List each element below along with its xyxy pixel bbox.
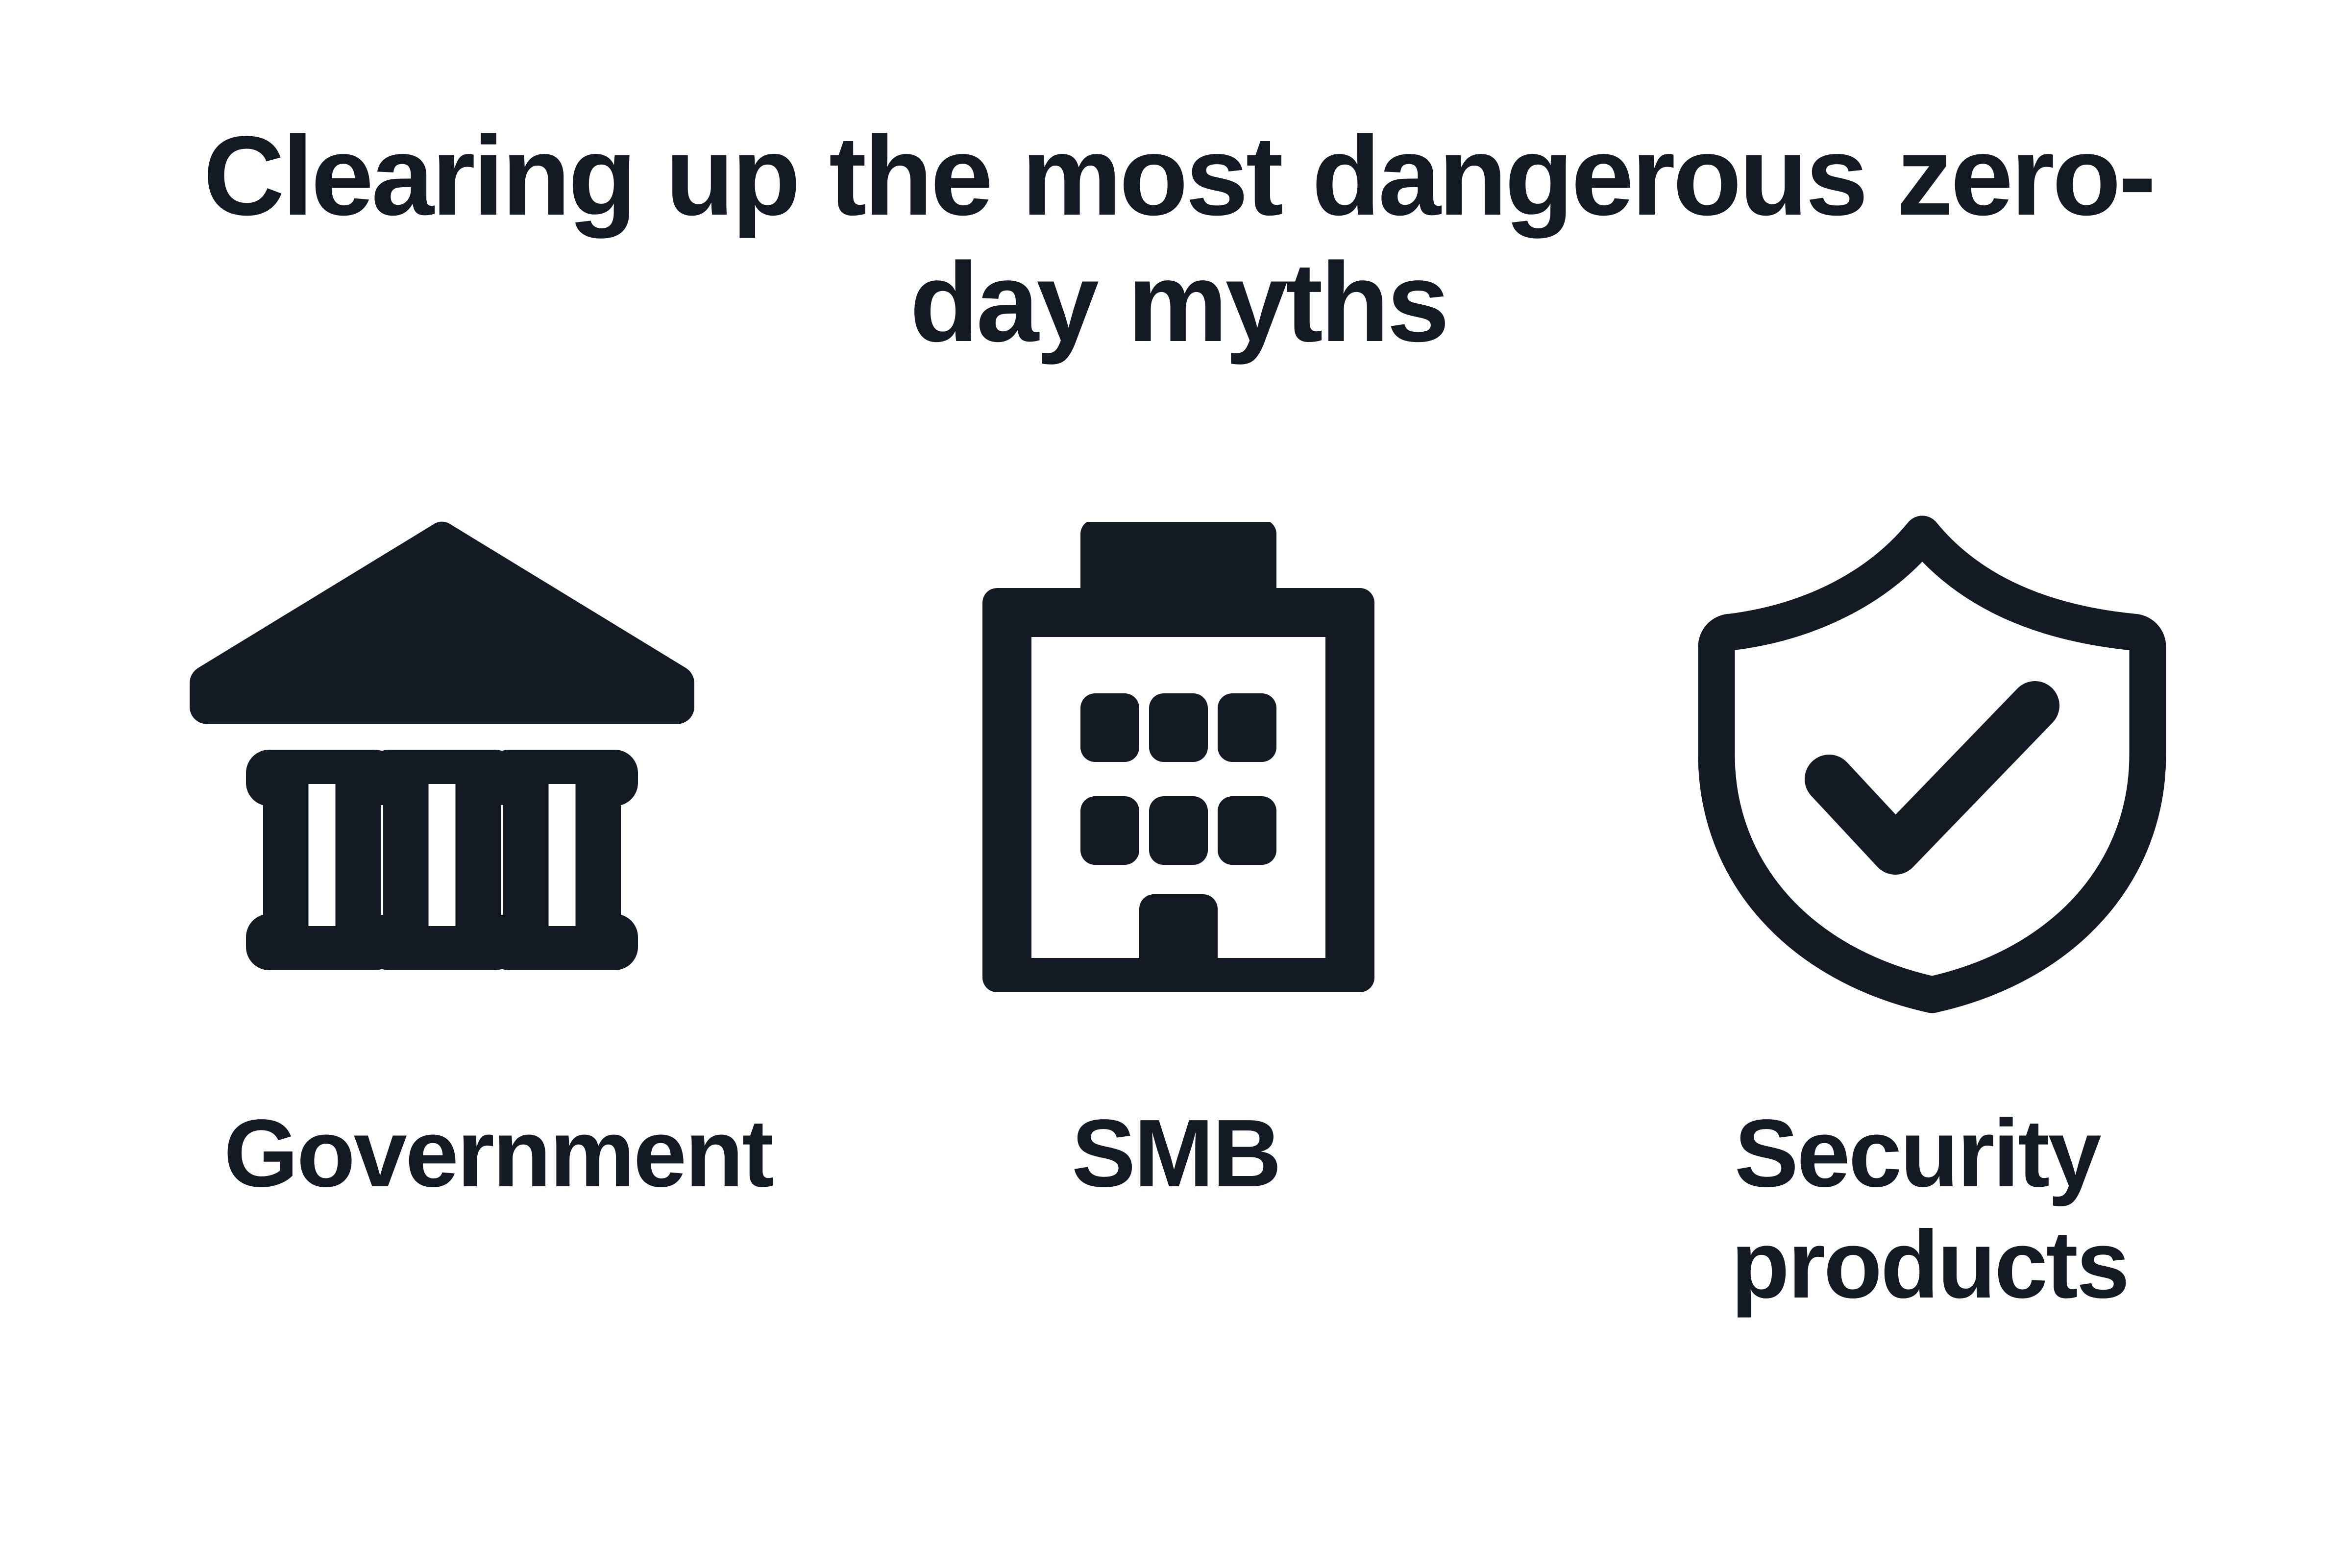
category-label-smb: SMB	[1072, 1098, 1280, 1209]
category-label-government: Government	[224, 1098, 645, 1209]
government-building-icon	[168, 490, 702, 1039]
slide-root: Clearing up the most dangerous zero-day …	[0, 0, 2352, 1568]
category-card-smb: SMB	[805, 490, 1546, 1209]
category-card-security-products: Security products	[1546, 490, 2288, 1321]
office-building-icon	[963, 490, 1389, 1039]
category-label-security-products: Security products	[1731, 1098, 2104, 1321]
page-title: Clearing up the most dangerous zero-day …	[176, 113, 2180, 365]
category-card-government: Government	[64, 490, 805, 1209]
title-block: Clearing up the most dangerous zero-day …	[176, 113, 2180, 365]
shield-check-icon	[1667, 490, 2167, 1039]
category-cards-row: Government	[64, 490, 2288, 1321]
